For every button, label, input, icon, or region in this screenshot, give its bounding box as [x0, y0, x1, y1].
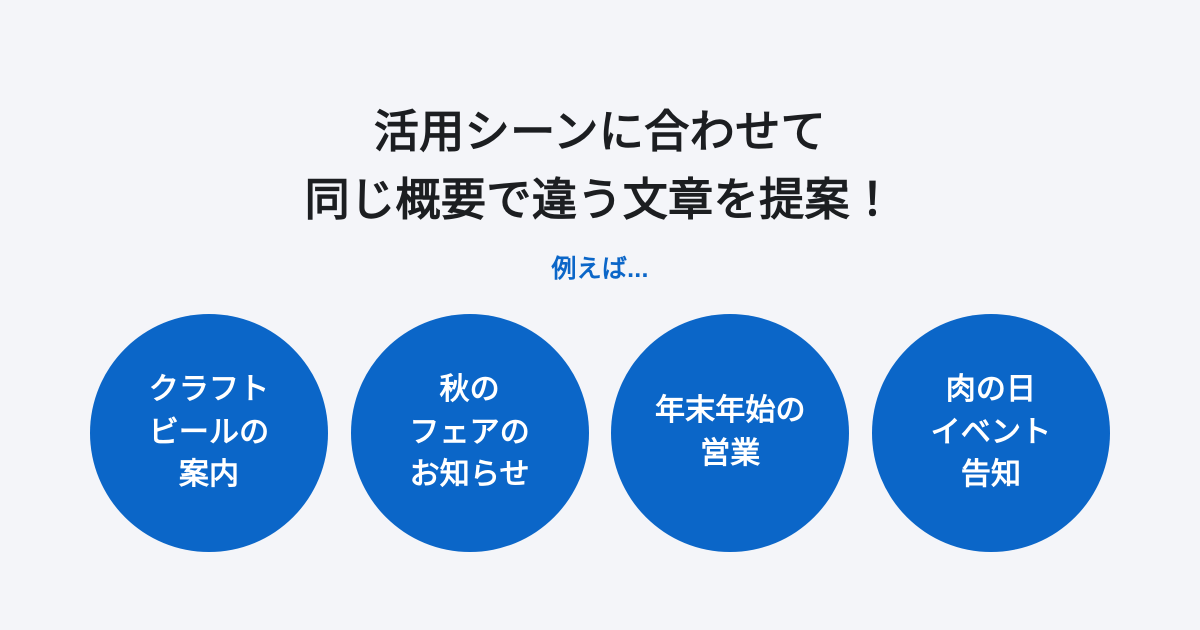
circle-label-line-2: 営業 [617, 433, 843, 476]
headline-line-2: 同じ概要で違う文章を提案！ [0, 166, 1200, 234]
circle-label-line-2: フェアの [357, 412, 583, 455]
example-circle-row: クラフト ビールの 案内 秋の フェアの お知らせ 年末年始の 営業 肉の日 イ… [90, 313, 1110, 553]
promo-slide: 活用シーンに合わせて 同じ概要で違う文章を提案！ 例えば... クラフト ビール… [0, 0, 1200, 630]
circle-meat-day-event[interactable]: 肉の日 イベント 告知 [872, 314, 1110, 552]
circle-craft-beer[interactable]: クラフト ビールの 案内 [90, 314, 328, 552]
circle-label-line-2: イベント [878, 412, 1104, 455]
circle-autumn-fair[interactable]: 秋の フェアの お知らせ [351, 314, 589, 552]
circle-label-line-1: 年末年始の [617, 390, 843, 433]
circle-label-line-1: 秋の [357, 369, 583, 412]
circle-label-line-3: お知らせ [357, 454, 583, 497]
headline-line-1: 活用シーンに合わせて [0, 98, 1200, 166]
circle-craft-beer-label: クラフト ビールの 案内 [90, 369, 328, 497]
circle-year-end-hours[interactable]: 年末年始の 営業 [611, 314, 849, 552]
circle-label-line-3: 案内 [96, 454, 322, 497]
circle-autumn-fair-label: 秋の フェアの お知らせ [351, 369, 589, 497]
page-title: 活用シーンに合わせて 同じ概要で違う文章を提案！ [0, 98, 1200, 233]
circle-year-end-hours-label: 年末年始の 営業 [611, 390, 849, 475]
circle-meat-day-event-label: 肉の日 イベント 告知 [872, 369, 1110, 497]
example-label: 例えば... [0, 254, 1200, 284]
circle-label-line-3: 告知 [878, 454, 1104, 497]
circle-label-line-1: 肉の日 [878, 369, 1104, 412]
circle-label-line-2: ビールの [96, 412, 322, 455]
circle-label-line-1: クラフト [96, 369, 322, 412]
